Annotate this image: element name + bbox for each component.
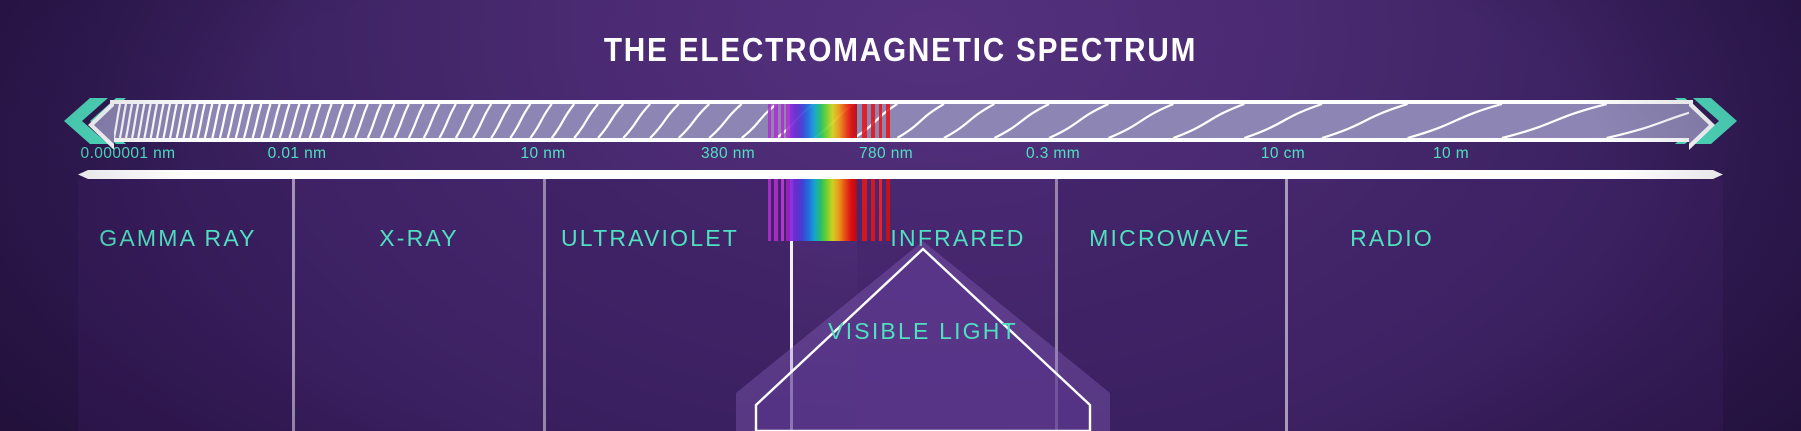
band-column [543, 179, 790, 431]
band-label: INFRARED [890, 225, 1025, 252]
page-title: THE ELECTROMAGNETIC SPECTRUM [90, 31, 1711, 69]
tick-label: 0.000001 nm [81, 145, 176, 163]
spectral-line [768, 179, 771, 241]
wavelength-tick-labels: 0.000001 nm0.01 nm10 nm380 nm780 nm0.3 m… [0, 145, 1801, 169]
band-column [292, 179, 543, 431]
spectral-line [886, 179, 890, 241]
band-column [1285, 179, 1723, 431]
spectral-line [862, 179, 867, 241]
waveform-pattern [114, 104, 1689, 138]
tick-label: 380 nm [701, 145, 755, 163]
baseline-rule [78, 170, 1723, 179]
infographic-canvas: THE ELECTROMAGNETIC SPECTRUM 0.000001 nm… [0, 0, 1801, 431]
band-label: RADIO [1350, 225, 1434, 252]
band-column [78, 179, 292, 431]
tick-label: 10 cm [1261, 145, 1305, 163]
spectral-line [879, 179, 882, 241]
bar-right-point [1689, 100, 1715, 150]
bar-left-point [88, 100, 114, 150]
band-label: GAMMA RAY [99, 225, 256, 252]
band-label: ULTRAVIOLET [561, 225, 739, 252]
visible-spectrum-drop [790, 179, 857, 241]
wavelength-bar [110, 100, 1693, 142]
band-label: X-RAY [379, 225, 459, 252]
tick-label: 10 nm [520, 145, 565, 163]
band-label: MICROWAVE [1089, 225, 1251, 252]
spectral-line [871, 179, 875, 241]
spectral-line [774, 179, 778, 241]
spectrum-band-row: GAMMA RAYX-RAYULTRAVIOLETINFRAREDMICROWA… [0, 179, 1801, 431]
band-column [1055, 179, 1285, 431]
tick-label: 10 m [1433, 145, 1469, 163]
spectrum-bar [0, 96, 1801, 146]
tick-label: 780 nm [859, 145, 913, 163]
tick-label: 0.3 mm [1026, 145, 1080, 163]
spectral-line [781, 179, 784, 241]
tick-label: 0.01 nm [268, 145, 327, 163]
